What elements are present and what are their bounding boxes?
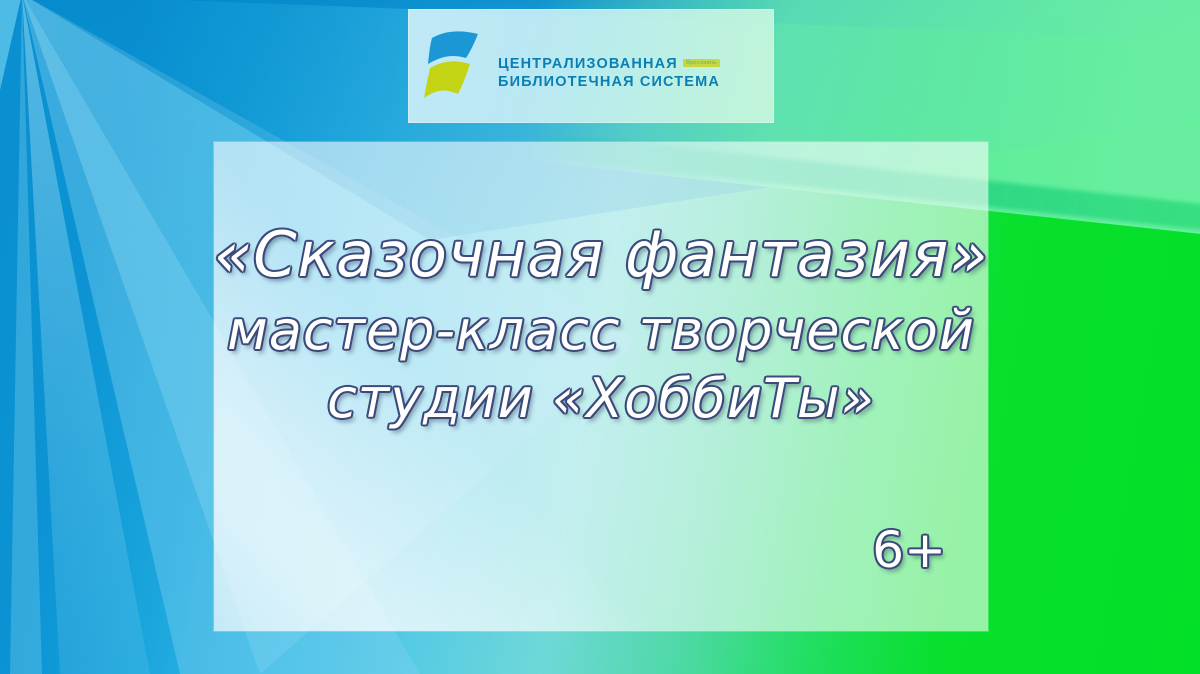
logo-line-1: ЦЕНТРАЛИЗОВАННАЯ <box>498 56 678 74</box>
logo-line-1-row: ЦЕНТРАЛИЗОВАННАЯ Ярославль <box>498 56 720 74</box>
logo-text-block: ЦЕНТРАЛИЗОВАННАЯ Ярославль БИБЛИОТЕЧНАЯ … <box>498 56 720 91</box>
content-panel: «Сказочная фантазия» мастер-класс творче… <box>214 142 988 631</box>
poster-canvas: ЦЕНТРАЛИЗОВАННАЯ Ярославль БИБЛИОТЕЧНАЯ … <box>0 0 1200 674</box>
logo-line-2: БИБЛИОТЕЧНАЯ СИСТЕМА <box>498 74 720 92</box>
headline-line-2: мастер-класс творческой <box>214 304 988 358</box>
logo-city-badge: Ярославль <box>683 59 720 67</box>
cbs-logo-mark-icon <box>422 24 488 108</box>
logo-panel: ЦЕНТРАЛИЗОВАННАЯ Ярославль БИБЛИОТЕЧНАЯ … <box>408 9 774 123</box>
headline-block: «Сказочная фантазия» мастер-класс творче… <box>214 142 988 426</box>
headline-line-3: студии «ХоббиТы» <box>214 372 988 426</box>
headline-line-1: «Сказочная фантазия» <box>214 224 988 286</box>
age-rating-badge: 6+ <box>872 521 946 579</box>
